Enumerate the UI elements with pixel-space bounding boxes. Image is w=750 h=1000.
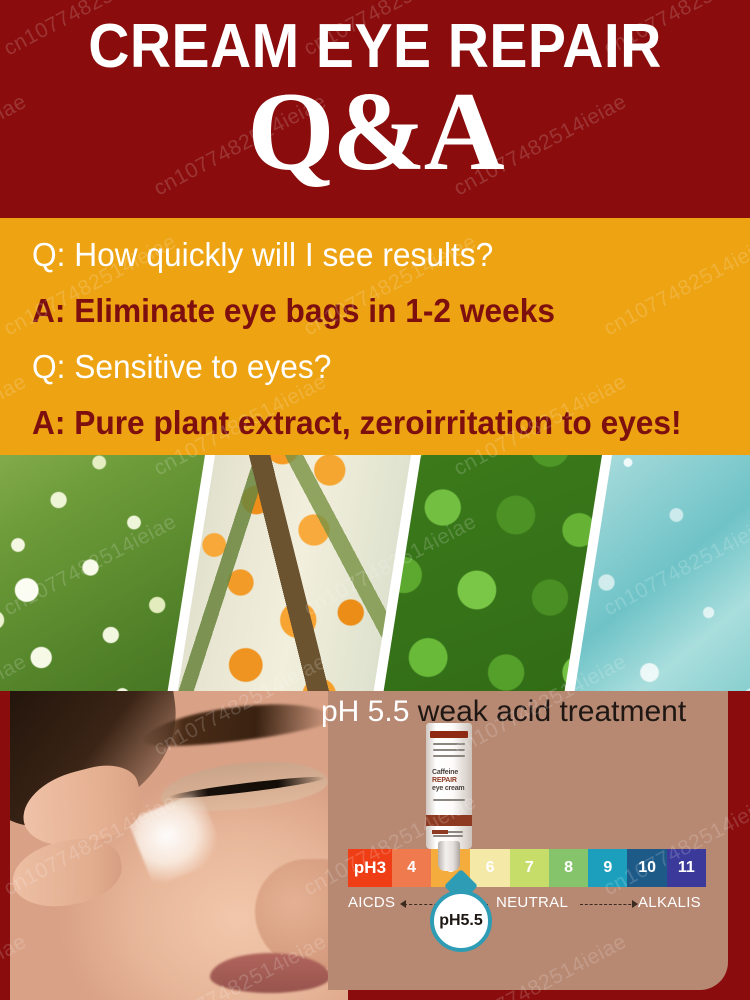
ph-swatch-10: 10 [627, 849, 666, 887]
tube-line2: REPAIR [432, 777, 468, 785]
tube-body: Caffeine REPAIR eye cream [426, 723, 472, 849]
ph-swatch-3: pH3 [348, 849, 392, 887]
header-banner: CREAM EYE REPAIR Q&A [0, 0, 750, 218]
tube-brand: Caffeine [432, 769, 468, 777]
ph-heading: pH 5.5 weak acid treatment [321, 695, 741, 729]
ph-marker-droplet: pH5.5 [430, 874, 492, 952]
tube-line3: eye cream [432, 785, 468, 793]
ph-swatch-11: 11 [667, 849, 706, 887]
ph-heading-value: pH 5.5 [321, 695, 409, 728]
poster-root: CREAM EYE REPAIR Q&A Q: How quickly will… [0, 0, 750, 1000]
qa-answer-2: A: Pure plant extract, zeroirritation to… [32, 404, 704, 442]
ph-info-panel: pH 5.5 weak acid treatment Caffeine REPA… [328, 691, 728, 990]
ph-swatch-7: 7 [510, 849, 549, 887]
qa-question-1: Q: How quickly will I see results? [32, 236, 704, 274]
product-tube: Caffeine REPAIR eye cream [426, 723, 472, 873]
qa-answer-1: A: Eliminate eye bags in 1-2 weeks [32, 292, 704, 330]
qa-heading: Q&A [0, 72, 750, 192]
tube-label: Caffeine REPAIR eye cream [432, 769, 468, 793]
ph-axis: AICDS NEUTRAL ALKALIS [348, 894, 706, 916]
bottom-section: pH 5.5 weak acid treatment Caffeine REPA… [0, 691, 750, 1000]
axis-label-alkali: ALKALIS [638, 894, 701, 911]
model-photo [10, 691, 348, 1000]
ph-swatch-9: 9 [588, 849, 627, 887]
axis-label-acid: AICDS [348, 894, 395, 911]
tube-color-bar [426, 815, 472, 826]
ph-swatch-8: 8 [549, 849, 588, 887]
ingredient-image-strip [0, 455, 750, 691]
lips [210, 953, 330, 993]
tube-cap [438, 841, 460, 871]
ph-scale: pH3 4 5 6 7 8 9 10 11 [348, 849, 706, 887]
axis-label-neutral: NEUTRAL [496, 894, 568, 911]
qa-band: Q: How quickly will I see results? A: El… [0, 218, 750, 455]
tube-accent [432, 830, 448, 834]
qa-question-2: Q: Sensitive to eyes? [32, 348, 704, 386]
axis-dash-right [580, 904, 636, 906]
tube-top-band [430, 731, 468, 738]
droplet-label: pH5.5 [430, 890, 492, 952]
